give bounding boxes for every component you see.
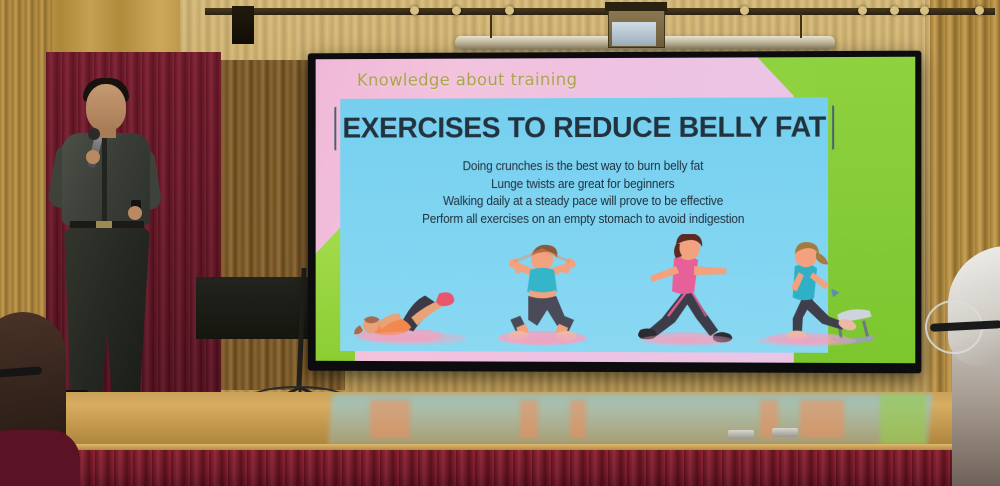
presenter-hand-clicker	[128, 206, 142, 220]
black-draped-table	[196, 277, 308, 339]
microphone-head-icon	[88, 128, 100, 140]
presenter-hand-mic	[86, 150, 100, 164]
audience-left-shoulder	[0, 430, 80, 486]
lunge-twist-figure-art	[494, 238, 590, 346]
projector-mount	[605, 2, 667, 11]
walking-figure	[634, 234, 738, 346]
slide-body-lines: Doing crunches is the best way to burn b…	[340, 158, 828, 228]
slide-body-line: Doing crunches is the best way to burn b…	[355, 158, 814, 176]
rail-node	[452, 6, 461, 15]
presenter-shirt-placket	[102, 136, 107, 222]
figure-reflection	[800, 400, 844, 438]
exercise-figure-row	[340, 234, 828, 347]
step-lunge-figure	[758, 240, 877, 347]
rail-node	[410, 6, 419, 15]
light-hanger-wire	[800, 14, 802, 38]
lunge-twist-figure	[494, 238, 590, 346]
green-reflection	[880, 394, 926, 444]
presenter-trousers	[64, 228, 150, 398]
slide-body-line: Perform all exercises on an empty stomac…	[355, 210, 814, 228]
slide-kicker: Knowledge about training	[357, 70, 577, 90]
auditorium-scene: Knowledge about training EXERCISES TO RE…	[0, 0, 1000, 486]
rail-node	[890, 6, 899, 15]
crunch-figure	[354, 256, 473, 346]
rail-node	[505, 6, 514, 15]
presentation-screen[interactable]: Knowledge about training EXERCISES TO RE…	[308, 51, 922, 374]
presenter-head	[86, 84, 126, 131]
light-hanger-wire	[490, 14, 492, 38]
slide-headline-row: EXERCISES TO REDUCE BELLY FAT	[340, 105, 828, 150]
projector-lens	[612, 22, 656, 46]
step-lunge-figure-art	[758, 240, 877, 347]
bracket-left-icon	[335, 107, 337, 151]
slide-body-line: Walking daily at a steady pace will prov…	[355, 193, 814, 211]
screen-bezel: Knowledge about training EXERCISES TO RE…	[316, 57, 916, 364]
ceiling-speaker	[232, 6, 254, 44]
figure-shadow	[496, 333, 588, 346]
walking-figure-art	[634, 234, 738, 346]
rail-node	[975, 6, 984, 15]
ceiling-rail	[205, 8, 995, 15]
figure-reflection	[570, 400, 586, 438]
slide-body-line: Lunge twists are great for beginners	[355, 175, 814, 193]
floor-object	[772, 428, 798, 437]
slide-headline: EXERCISES TO REDUCE BELLY FAT	[342, 111, 826, 145]
slide-content: Knowledge about training EXERCISES TO RE…	[316, 57, 916, 364]
rail-node	[920, 6, 929, 15]
figure-reflection	[520, 400, 538, 438]
stage-skirt	[0, 450, 1000, 486]
floor-object	[728, 430, 754, 439]
bracket-right-icon	[832, 105, 834, 149]
figure-reflection	[370, 400, 410, 438]
rail-node	[740, 6, 749, 15]
rail-node	[858, 6, 867, 15]
